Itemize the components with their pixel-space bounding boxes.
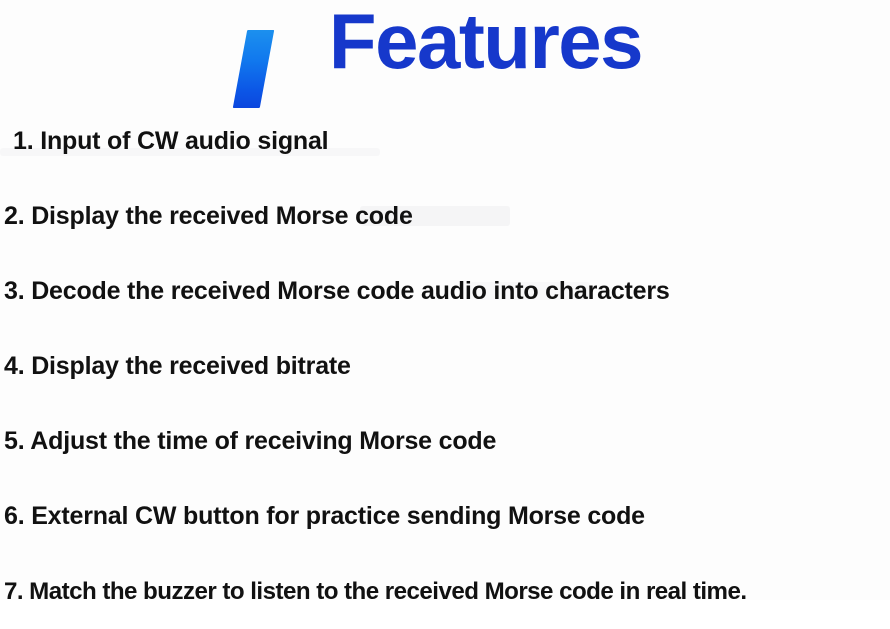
slanted-bar-icon: [233, 30, 274, 108]
list-item: 1. Input of CW audio signal: [0, 104, 890, 179]
page-title: Features: [329, 2, 642, 80]
list-item: 6. External CW button for practice sendi…: [0, 479, 890, 554]
list-item: 7. Match the buzzer to listen to the rec…: [0, 554, 877, 629]
list-item: 4. Display the received bitrate: [0, 329, 890, 404]
feature-text: 3. Decode the received Morse code audio …: [4, 277, 670, 306]
list-item: 3. Decode the received Morse code audio …: [0, 254, 890, 329]
features-page: Features 1. Input of CW audio signal 2. …: [0, 0, 890, 600]
feature-text: 7. Match the buzzer to listen to the rec…: [4, 578, 747, 606]
feature-text: 6. External CW button for practice sendi…: [4, 502, 645, 531]
feature-text: 1. Input of CW audio signal: [13, 127, 328, 156]
feature-text: 5. Adjust the time of receiving Morse co…: [4, 427, 496, 456]
list-item: 5. Adjust the time of receiving Morse co…: [0, 404, 890, 479]
feature-list: 1. Input of CW audio signal 2. Display t…: [0, 104, 890, 629]
feature-text: 2. Display the received Morse code: [4, 202, 413, 231]
page-header: Features: [0, 0, 890, 100]
feature-text: 4. Display the received bitrate: [4, 352, 351, 381]
list-item: 2. Display the received Morse code: [0, 179, 890, 254]
